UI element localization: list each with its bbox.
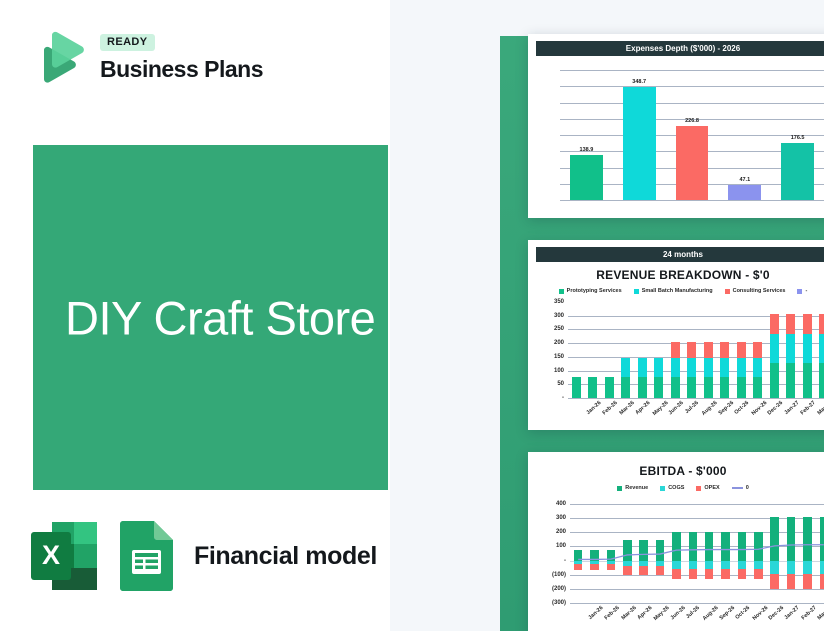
- legend-swatch-icon: [617, 486, 622, 491]
- y-axis-tick: 300: [556, 515, 566, 521]
- stacked-bar-segment: [705, 532, 714, 561]
- x-axis-label: May-26: [653, 605, 671, 622]
- stacked-bar-segment: [720, 377, 729, 398]
- x-axis-label: Feb-26: [602, 400, 619, 416]
- x-axis-label: Sep-26: [717, 400, 734, 417]
- y-axis-tick: -: [562, 395, 564, 401]
- google-sheets-icon: [116, 520, 176, 592]
- bar: [570, 155, 603, 200]
- chart3-title: EBITDA - $'000: [528, 464, 824, 478]
- ebitda-chart-card[interactable]: EBITDA - $'000 RevenueCOGSOPEX0 40030020…: [528, 452, 824, 631]
- stacked-bar-segment: [638, 358, 647, 377]
- y-axis-tick: (100): [552, 572, 566, 578]
- x-axis-label: Feb-27: [800, 400, 817, 416]
- gridline: [570, 504, 824, 505]
- x-axis-label: Feb-26: [604, 605, 621, 621]
- gridline: [560, 70, 824, 71]
- x-axis-label: Nov-26: [751, 605, 769, 622]
- stacked-bar-segment: [687, 377, 696, 398]
- legend-label: -: [805, 288, 807, 294]
- bar-value-label: 176.5: [791, 135, 805, 141]
- stacked-bar-segment: [803, 517, 812, 561]
- revenue-breakdown-chart-card[interactable]: 24 months REVENUE BREAKDOWN - $'0 Protot…: [528, 240, 824, 430]
- y-axis-tick: 150: [554, 354, 564, 360]
- chart1-title: Expenses Depth ($'000) - 2026: [536, 41, 824, 56]
- y-axis-tick: 300: [554, 313, 564, 319]
- legend-item: 0: [732, 485, 749, 491]
- stacked-bar-segment: [770, 574, 779, 589]
- stacked-bar-segment: [770, 314, 779, 334]
- y-axis-tick: 200: [556, 529, 566, 535]
- bar-value-label: 226.8: [685, 118, 699, 124]
- x-axis-label: Jul-26: [684, 400, 700, 415]
- stacked-bar-segment: [590, 550, 599, 561]
- gridline: [560, 86, 824, 87]
- stacked-bar-segment: [754, 569, 763, 579]
- stacked-bar-segment: [574, 564, 583, 570]
- stacked-bar-segment: [819, 363, 824, 398]
- stacked-bar-segment: [738, 561, 747, 570]
- stacked-bar-segment: [754, 532, 763, 561]
- stacked-bar-segment: [787, 574, 796, 589]
- brand-lockup: READY Business Plans: [30, 28, 263, 84]
- slide-root: READY Business Plans DIY Craft Store X: [0, 0, 824, 631]
- stacked-bar-segment: [621, 358, 630, 377]
- legend-swatch-icon: [797, 289, 802, 294]
- stacked-bar-segment: [737, 342, 746, 358]
- legend-item: OPEX: [696, 485, 719, 491]
- x-axis-label: Jun-26: [669, 605, 686, 621]
- stacked-bar-segment: [770, 334, 779, 363]
- gridline: [560, 200, 824, 201]
- x-axis-label: Dec-26: [767, 400, 784, 417]
- x-axis-label: Jun-26: [668, 400, 685, 416]
- stacked-bar-segment: [721, 569, 730, 579]
- stacked-bar-segment: [803, 314, 812, 334]
- stacked-bar-segment: [819, 334, 824, 363]
- x-axis-label: Jan-26: [585, 400, 602, 416]
- stacked-bar-segment: [753, 358, 762, 377]
- stacked-bar-segment: [623, 540, 632, 561]
- stacked-bar-segment: [753, 342, 762, 358]
- stacked-bar-segment: [654, 377, 663, 398]
- stacked-bar-segment: [786, 334, 795, 363]
- y-axis-tick: 100: [554, 368, 564, 374]
- stacked-bar-segment: [590, 564, 599, 570]
- x-axis-label: Jan-26: [587, 605, 604, 621]
- footer-label: Financial model: [194, 542, 377, 571]
- stacked-bar-segment: [671, 377, 680, 398]
- stacked-bar-segment: [803, 363, 812, 398]
- stacked-bar-segment: [770, 363, 779, 398]
- legend-label: COGS: [668, 485, 684, 491]
- stacked-bar-segment: [704, 342, 713, 358]
- stacked-bar-segment: [737, 358, 746, 377]
- expenses-depth-chart-card[interactable]: Expenses Depth ($'000) - 2026 138.9348.7…: [528, 34, 824, 218]
- stacked-bar-segment: [687, 358, 696, 377]
- stacked-bar-segment: [720, 342, 729, 358]
- stacked-bar-segment: [820, 517, 824, 561]
- chart1-plot-area: 138.9348.7226.847.1176.5: [560, 70, 824, 200]
- chart2-x-axis: Jan-26Feb-26Mar-26Apr-26May-26Jun-26Jul-…: [568, 398, 824, 430]
- stacked-bar-segment: [607, 564, 616, 570]
- stacked-bar-segment: [639, 566, 648, 575]
- x-axis-label: Jan-27: [784, 605, 801, 621]
- ready-badge: READY: [100, 34, 155, 51]
- stacked-bar-segment: [738, 569, 747, 579]
- stacked-bar-segment: [820, 561, 824, 574]
- play-triangles-logo-icon: [30, 28, 86, 84]
- x-axis-label: Mar-27: [816, 400, 824, 416]
- x-axis-label: Oct-26: [734, 400, 751, 416]
- x-axis-label: May-26: [652, 400, 670, 417]
- x-axis-label: Jan-27: [783, 400, 800, 416]
- bar-value-label: 47.1: [739, 177, 750, 183]
- x-axis-label: Feb-27: [800, 605, 817, 621]
- stacked-bar-segment: [672, 561, 681, 570]
- y-axis-tick: 50: [557, 381, 564, 387]
- legend-swatch-icon: [725, 289, 730, 294]
- stacked-bar-segment: [721, 532, 730, 561]
- bar-value-label: 138.9: [580, 147, 594, 153]
- stacked-bar-segment: [687, 342, 696, 358]
- stacked-bar-segment: [753, 377, 762, 398]
- stacked-bar-segment: [654, 358, 663, 377]
- legend-label: 0: [746, 485, 749, 491]
- brand-name: Business Plans: [100, 58, 263, 81]
- page-title: DIY Craft Store: [65, 290, 375, 345]
- legend-label: Revenue: [625, 485, 648, 491]
- legend-label: OPEX: [704, 485, 719, 491]
- x-axis-label: Aug-26: [702, 605, 720, 622]
- legend-label: Prototyping Services: [567, 288, 622, 294]
- chart3-plot-area: 400300200100-(100)(200)(300): [570, 504, 824, 603]
- x-axis-label: Mar-27: [817, 605, 824, 621]
- bar: [728, 185, 761, 200]
- stacked-bar-segment: [705, 569, 714, 579]
- y-axis-tick: 350: [554, 299, 564, 305]
- footer-file-formats: X Financial model: [30, 520, 377, 592]
- stacked-bar-segment: [605, 377, 614, 398]
- stacked-bar-segment: [704, 358, 713, 377]
- stacked-bar-segment: [770, 561, 779, 574]
- stacked-bar-segment: [607, 550, 616, 561]
- stacked-bar-segment: [572, 377, 581, 398]
- stacked-bar-segment: [820, 574, 824, 589]
- stacked-bar-segment: [705, 561, 714, 570]
- stacked-bar-segment: [672, 532, 681, 561]
- stacked-bar-segment: [803, 561, 812, 574]
- legend-item: COGS: [660, 485, 684, 491]
- chart2-plot-area: 35030025020015010050-: [568, 302, 824, 398]
- stacked-bar-segment: [671, 358, 680, 377]
- y-axis-tick: (200): [552, 586, 566, 592]
- x-axis-label: Jul-26: [685, 605, 701, 620]
- stacked-bar-segment: [588, 377, 597, 398]
- stacked-bar-segment: [671, 342, 680, 358]
- stacked-bar-segment: [819, 314, 824, 334]
- stacked-bar-segment: [803, 574, 812, 589]
- brand-text-block: READY Business Plans: [100, 32, 263, 81]
- chart2-header: 24 months: [536, 247, 824, 262]
- stacked-bar-segment: [786, 363, 795, 398]
- stacked-bar-segment: [574, 550, 583, 561]
- stacked-bar-segment: [787, 517, 796, 561]
- stacked-bar-segment: [689, 532, 698, 561]
- bar: [623, 87, 656, 200]
- x-axis-label: Aug-26: [701, 400, 719, 417]
- stacked-bar-segment: [656, 540, 665, 561]
- y-axis-tick: -: [564, 558, 566, 564]
- stacked-bar-segment: [720, 358, 729, 377]
- y-axis-tick: 400: [556, 501, 566, 507]
- slab-top-mask: [500, 0, 824, 36]
- x-axis-label: Sep-26: [718, 605, 735, 622]
- excel-file-icon: X: [30, 520, 98, 592]
- stacked-bar-segment: [639, 540, 648, 561]
- y-axis-tick: 100: [556, 543, 566, 549]
- legend-swatch-icon: [696, 486, 701, 491]
- bar: [781, 143, 814, 200]
- legend-item: Revenue: [617, 485, 648, 491]
- x-axis-label: Mar-26: [618, 400, 635, 416]
- chart3-legend: RevenueCOGSOPEX0: [528, 485, 824, 491]
- x-axis-label: Mar-26: [620, 605, 637, 621]
- chart2-title: REVENUE BREAKDOWN - $'0: [528, 268, 824, 282]
- hero-panel: DIY Craft Store: [33, 145, 388, 490]
- legend-line-icon: [732, 487, 743, 489]
- legend-swatch-icon: [660, 486, 665, 491]
- stacked-bar-segment: [656, 566, 665, 575]
- stacked-bar-segment: [803, 334, 812, 363]
- legend-swatch-icon: [634, 289, 639, 294]
- svg-text:X: X: [42, 540, 60, 570]
- bar: [676, 126, 709, 200]
- stacked-bar-segment: [787, 561, 796, 574]
- stacked-bar-segment: [621, 377, 630, 398]
- x-axis-label: Apr-26: [635, 400, 652, 416]
- bar-value-label: 348.7: [632, 79, 646, 85]
- stacked-bar-segment: [737, 377, 746, 398]
- x-axis-label: Dec-26: [768, 605, 785, 622]
- legend-item: Small Batch Manufacturing: [634, 288, 713, 294]
- stacked-bar-segment: [689, 569, 698, 579]
- chart2-legend: Prototyping ServicesSmall Batch Manufact…: [528, 288, 824, 294]
- stacked-bar-segment: [738, 532, 747, 561]
- stacked-bar-segment: [721, 561, 730, 570]
- stacked-bar-segment: [672, 569, 681, 579]
- legend-item: Consulting Services: [725, 288, 786, 294]
- x-axis-label: Nov-26: [751, 400, 769, 417]
- stacked-bar-segment: [623, 566, 632, 575]
- stacked-bar-segment: [689, 561, 698, 570]
- y-axis-tick: 250: [554, 326, 564, 332]
- x-axis-label: Oct-26: [735, 605, 752, 621]
- stacked-bar-segment: [754, 561, 763, 570]
- gridline: [560, 103, 824, 104]
- legend-label: Consulting Services: [733, 288, 786, 294]
- y-axis-tick: 200: [554, 340, 564, 346]
- legend-swatch-icon: [559, 289, 564, 294]
- legend-item: -: [797, 288, 807, 294]
- stacked-bar-segment: [704, 377, 713, 398]
- stacked-bar-segment: [786, 314, 795, 334]
- legend-item: Prototyping Services: [559, 288, 622, 294]
- stacked-bar-segment: [770, 517, 779, 561]
- x-axis-label: Apr-26: [636, 605, 653, 621]
- chart3-x-axis: Jan-26Feb-26Mar-26Apr-26May-26Jun-26Jul-…: [570, 603, 824, 631]
- legend-label: Small Batch Manufacturing: [642, 288, 713, 294]
- y-axis-tick: (300): [552, 600, 566, 606]
- stacked-bar-segment: [638, 377, 647, 398]
